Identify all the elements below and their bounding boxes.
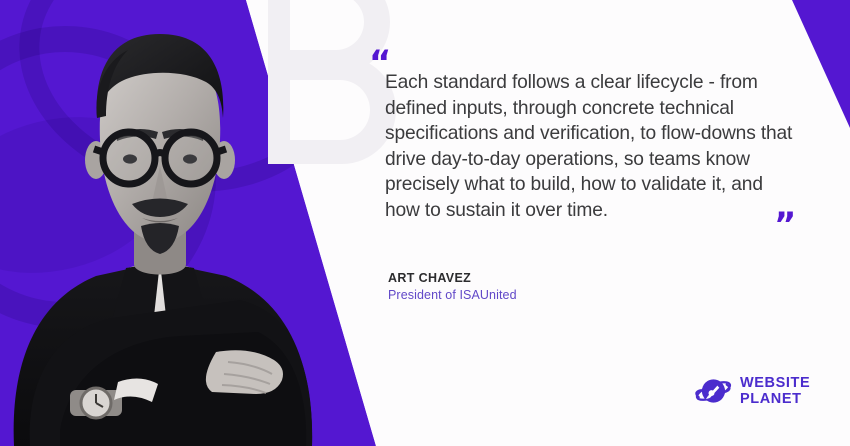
- website-planet-logo[interactable]: WEBSITE PLANET: [694, 372, 810, 410]
- brand-wordmark: WEBSITE PLANET: [740, 375, 810, 407]
- portrait-photo: [0, 0, 340, 446]
- portrait-photo-image: [0, 0, 340, 446]
- attribution: ART CHAVEZ President of ISAUnited: [388, 270, 517, 304]
- brand-line-1: WEBSITE: [740, 375, 810, 391]
- author-role: President of ISAUnited: [388, 287, 517, 304]
- author-name: ART CHAVEZ: [388, 270, 517, 286]
- planet-rocket-icon: [694, 372, 732, 410]
- brand-line-2: PLANET: [740, 391, 810, 407]
- testimonial-card: “ ” Each standard follows a clear lifecy…: [0, 0, 850, 446]
- quote-text: Each standard follows a clear lifecycle …: [385, 70, 797, 224]
